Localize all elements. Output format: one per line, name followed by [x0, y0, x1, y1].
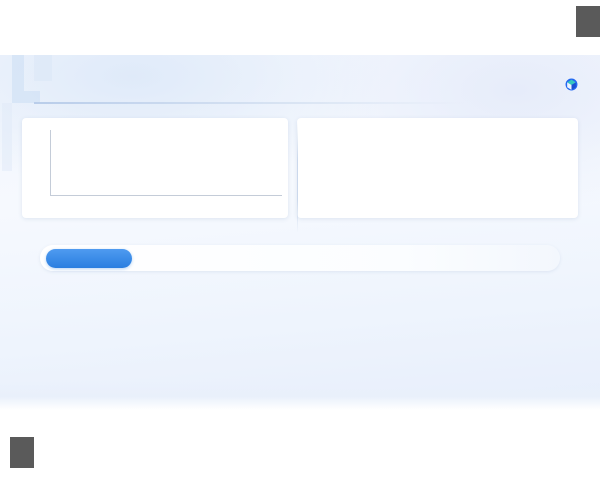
brand-lockup — [565, 78, 582, 91]
scatter-plot-area — [50, 130, 282, 196]
slide-bottom-fade — [0, 380, 600, 410]
scaling-law-panels — [307, 125, 568, 203]
watermark-bottom — [10, 437, 34, 468]
model-parameter-scatter-chart — [22, 118, 288, 218]
left-chart-caption — [22, 221, 288, 237]
scatter-x-axis — [50, 195, 282, 196]
slide-canvas — [0, 55, 600, 410]
scatter-y-axis — [50, 130, 51, 196]
scaling-law-chart — [297, 118, 578, 218]
title-underline — [34, 102, 464, 104]
challenge-tags-row — [26, 353, 574, 375]
new-moore-law-pill[interactable] — [46, 249, 132, 268]
chart-captions-row — [22, 221, 578, 237]
moore-law-band — [40, 245, 560, 271]
charts-row — [22, 118, 578, 218]
baidu-cloud-logo-icon — [565, 78, 578, 91]
right-chart-caption — [297, 221, 578, 237]
slide-header — [0, 77, 600, 111]
highlight-cards-row — [36, 281, 564, 343]
screenshot-root — [0, 0, 600, 480]
watermark-top — [576, 6, 600, 37]
charts-divider — [297, 121, 298, 233]
